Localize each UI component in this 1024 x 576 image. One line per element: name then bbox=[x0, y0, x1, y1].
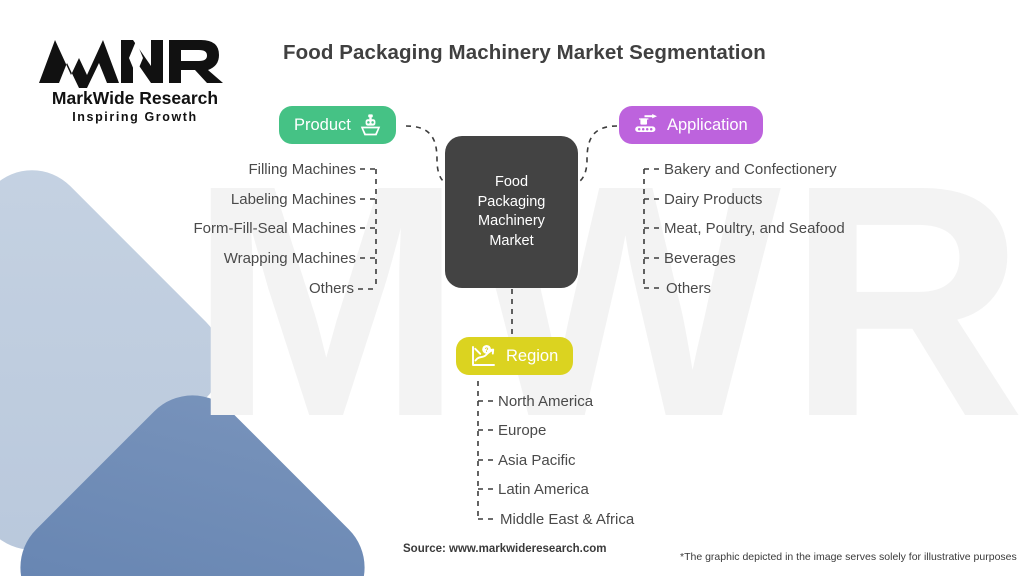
branch-badge-region[interactable]: ? Region bbox=[456, 337, 573, 375]
market-chart-location-icon: ? bbox=[471, 345, 497, 368]
leaf-item-product-0: Filling Machines bbox=[248, 161, 356, 178]
leaf-item-application-2: Meat, Poultry, and Seafood bbox=[664, 220, 845, 237]
leaf-item-product-1: Labeling Machines bbox=[231, 191, 356, 208]
packaging-robot-icon bbox=[360, 114, 381, 136]
branch-label-application: Application bbox=[667, 116, 748, 135]
branch-badge-product[interactable]: Product bbox=[279, 106, 396, 144]
svg-text:?: ? bbox=[485, 347, 489, 354]
leaf-item-product-3: Wrapping Machines bbox=[224, 250, 356, 267]
leaf-item-region-4: Middle East & Africa bbox=[500, 511, 634, 528]
leaf-item-product-4: Others bbox=[309, 280, 354, 297]
source-text: Source: www.markwideresearch.com bbox=[403, 543, 606, 555]
leaf-item-application-4: Others bbox=[666, 280, 711, 297]
branch-label-product: Product bbox=[294, 116, 351, 135]
leaf-item-product-2: Form-Fill-Seal Machines bbox=[193, 220, 356, 237]
leaf-item-region-1: Europe bbox=[498, 422, 546, 439]
branch-badge-application[interactable]: Application bbox=[619, 106, 763, 144]
center-node-line-2: Packaging bbox=[478, 193, 546, 213]
center-node: Food Packaging Machinery Market bbox=[445, 136, 578, 288]
leaf-item-application-3: Beverages bbox=[664, 250, 736, 267]
conveyor-belt-icon bbox=[634, 114, 658, 136]
infographic-canvas: MWR MarkWide Research Inspiring Growth F… bbox=[0, 0, 1024, 576]
center-node-line-4: Market bbox=[478, 232, 546, 252]
leaf-item-region-0: North America bbox=[498, 393, 593, 410]
branch-label-region: Region bbox=[506, 347, 558, 366]
disclaimer-text: *The graphic depicted in the image serve… bbox=[680, 551, 1017, 563]
leaf-item-region-2: Asia Pacific bbox=[498, 452, 576, 469]
center-node-line-1: Food bbox=[478, 173, 546, 193]
leaf-item-region-3: Latin America bbox=[498, 481, 589, 498]
center-node-line-3: Machinery bbox=[478, 212, 546, 232]
leaf-item-application-1: Dairy Products bbox=[664, 191, 762, 208]
leaf-item-application-0: Bakery and Confectionery bbox=[664, 161, 837, 178]
